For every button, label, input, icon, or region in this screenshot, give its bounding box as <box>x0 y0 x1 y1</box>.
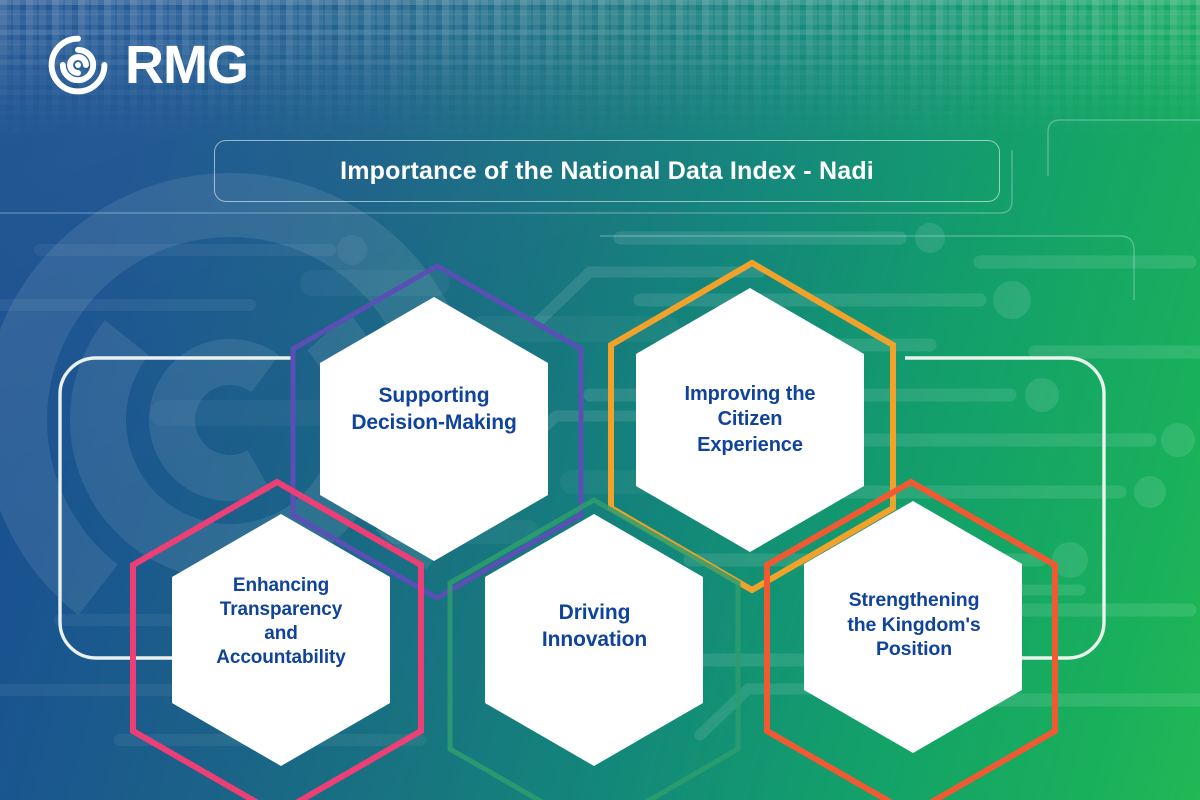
hex-label-line: Innovation <box>542 627 647 654</box>
hex-label-line: Enhancing <box>216 574 346 598</box>
hex-label-line: Driving <box>542 600 647 627</box>
hex-label-line: Accountability <box>216 646 346 670</box>
infographic-canvas: RMG Importance of the National Data Inde… <box>0 0 1200 800</box>
hex-label-line: the Kingdom's <box>847 613 980 638</box>
hex-node-supporting-decision-making[interactable]: Supporting Decision-Making <box>310 355 558 465</box>
hex-label-line: Supporting <box>351 383 516 410</box>
hex-label-line: Improving the <box>685 382 816 407</box>
hex-label-line: and <box>216 622 346 646</box>
pixel-matrix-band-secondary <box>0 0 1200 110</box>
hex-label-line: Strengthening <box>847 588 980 613</box>
hex-node-driving-innovation[interactable]: Driving Innovation <box>492 572 697 682</box>
hex-label-line: Decision-Making <box>351 410 516 437</box>
hex-node-strengthening-kingdoms-position[interactable]: Strengthening the Kingdom's Position <box>810 555 1018 695</box>
hex-label-line: Transparency <box>216 598 346 622</box>
hex-label-line: Experience <box>685 433 816 458</box>
hex-label-line: Position <box>847 637 980 662</box>
hex-node-improving-citizen-experience[interactable]: Improving the Citizen Experience <box>640 345 860 495</box>
hex-label-line: Citizen <box>685 407 816 432</box>
hex-node-enhancing-transparency-accountability[interactable]: Enhancing Transparency and Accountabilit… <box>176 537 386 707</box>
